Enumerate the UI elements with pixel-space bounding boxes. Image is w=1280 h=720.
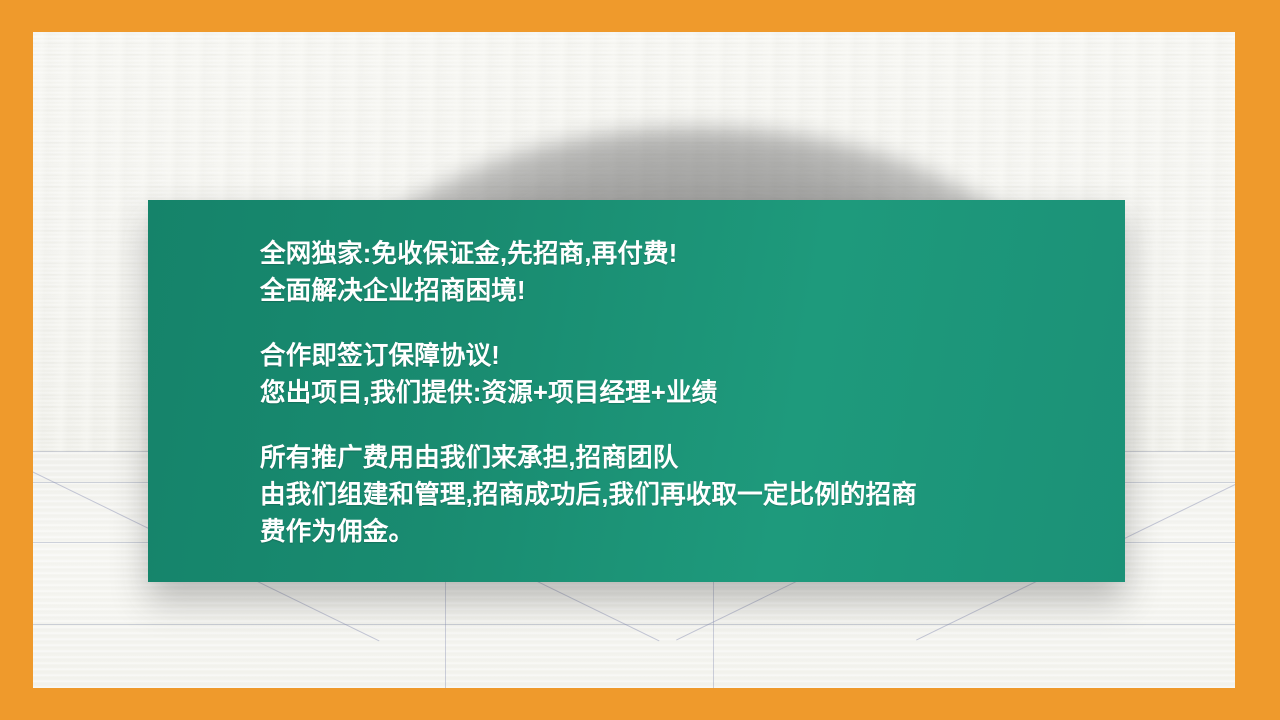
panel-line: 由我们组建和管理,招商成功后,我们再收取一定比例的招商: [260, 477, 1105, 514]
paragraph-1: 全网独家:免收保证金,先招商,再付费! 全面解决企业招商困境!: [260, 236, 1105, 310]
panel-line: 您出项目,我们提供:资源+项目经理+业绩: [260, 375, 1105, 412]
paragraph-2: 合作即签订保障协议! 您出项目,我们提供:资源+项目经理+业绩: [260, 338, 1105, 412]
green-message-panel: 全网独家:免收保证金,先招商,再付费! 全面解决企业招商困境! 合作即签订保障协…: [148, 200, 1125, 582]
floor-line-horizontal: [33, 624, 1235, 625]
panel-line: 合作即签订保障协议!: [260, 338, 1105, 375]
paragraph-3: 所有推广费用由我们来承担,招商团队 由我们组建和管理,招商成功后,我们再收取一定…: [260, 440, 1105, 551]
panel-line: 全面解决企业招商困境!: [260, 273, 1105, 310]
room-scene: 全网独家:免收保证金,先招商,再付费! 全面解决企业招商困境! 合作即签订保障协…: [33, 32, 1235, 688]
slide-canvas: 全网独家:免收保证金,先招商,再付费! 全面解决企业招商困境! 合作即签订保障协…: [0, 0, 1280, 720]
panel-line: 所有推广费用由我们来承担,招商团队: [260, 440, 1105, 477]
panel-text-block: 全网独家:免收保证金,先招商,再付费! 全面解决企业招商困境! 合作即签订保障协…: [260, 236, 1105, 572]
panel-line: 全网独家:免收保证金,先招商,再付费!: [260, 236, 1105, 273]
panel-line: 费作为佣金。: [260, 514, 1105, 551]
